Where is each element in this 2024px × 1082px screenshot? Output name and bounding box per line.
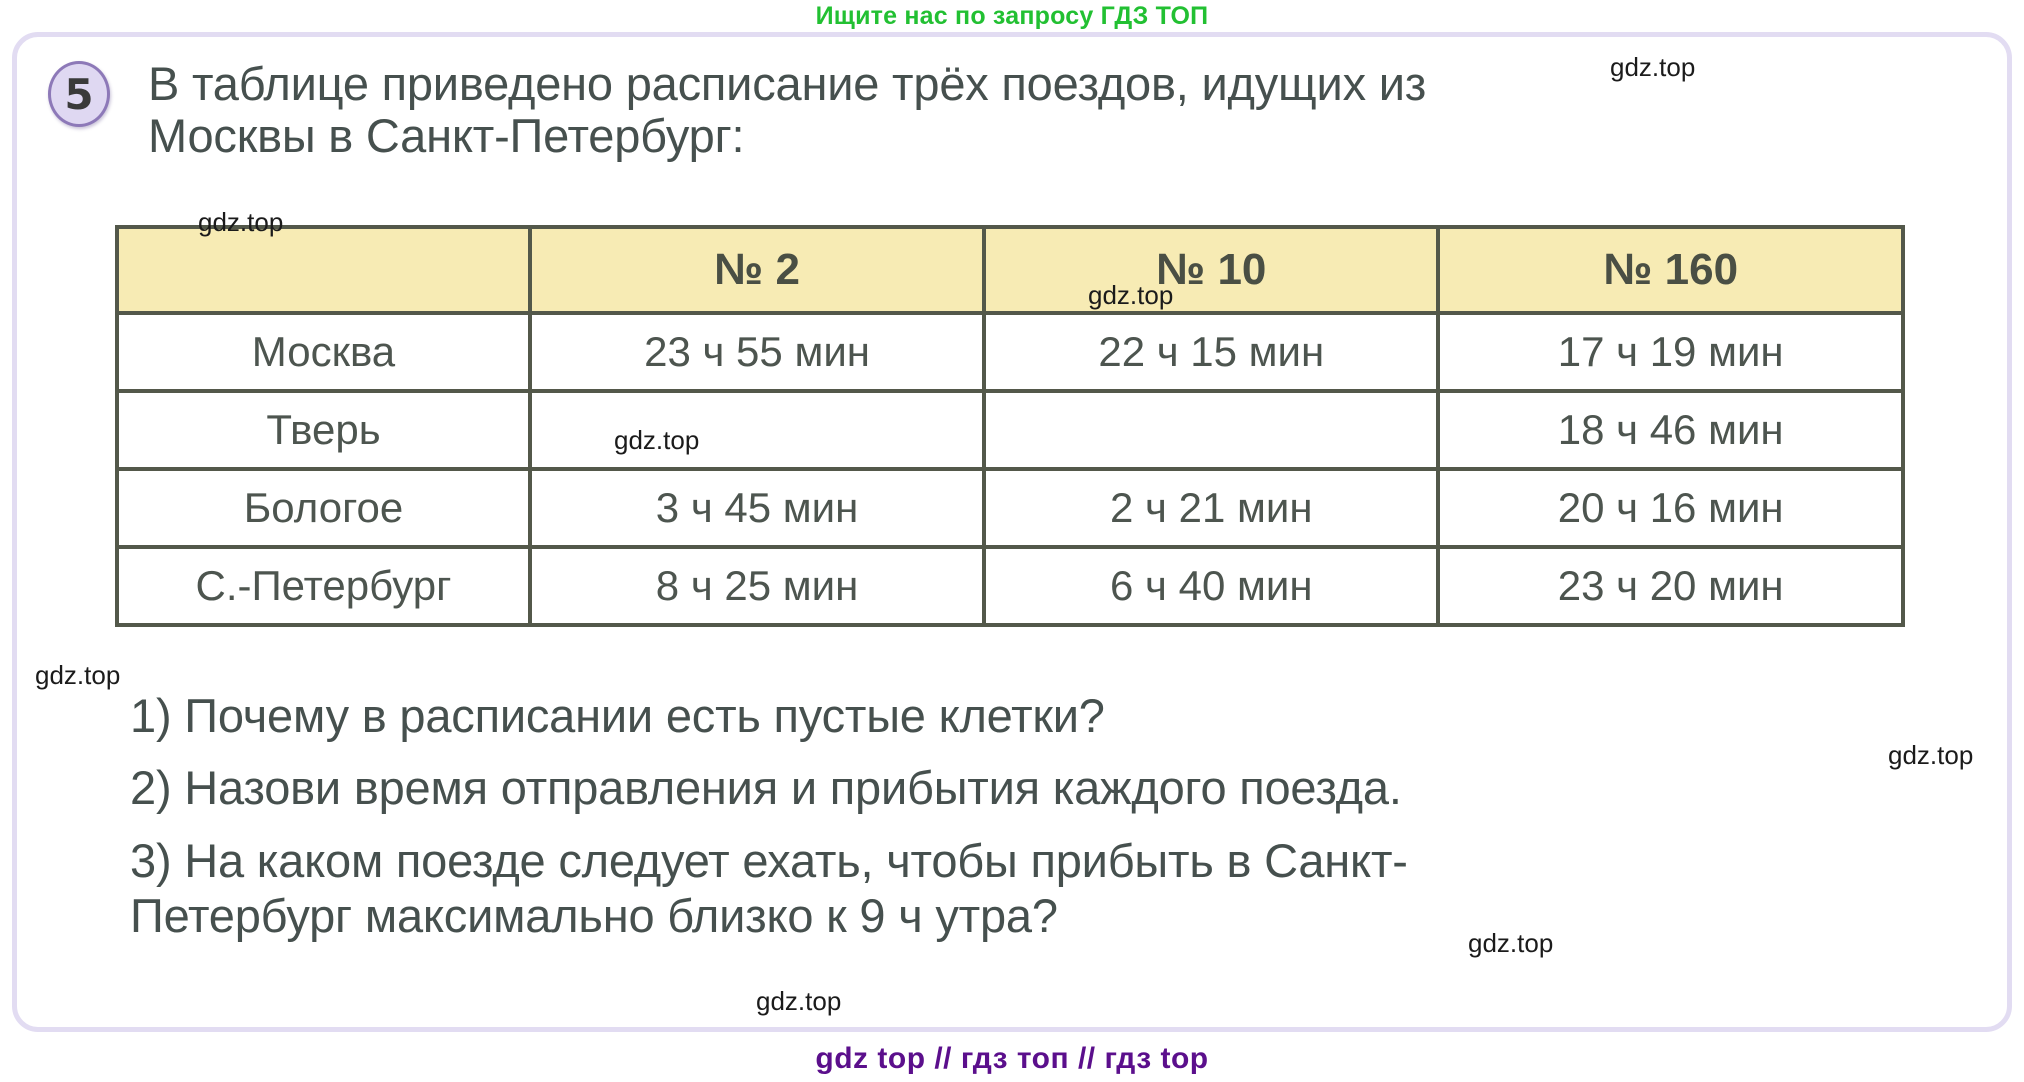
cell-train-10: [984, 391, 1438, 469]
cell-train-10: 6 ч 40 мин: [984, 547, 1438, 625]
watermark: gdz.top: [198, 207, 283, 238]
watermark: gdz.top: [1610, 52, 1695, 83]
cell-train-2: 3 ч 45 мин: [530, 469, 984, 547]
table-row: С.-Петербург 8 ч 25 мин 6 ч 40 мин 23 ч …: [117, 547, 1903, 625]
task-statement-line-1: В таблице приведено расписание трёх поез…: [148, 57, 1426, 110]
table-header-train-2: № 2: [530, 227, 984, 313]
watermark: gdz.top: [1888, 740, 1973, 771]
cell-train-10: 22 ч 15 мин: [984, 313, 1438, 391]
question-2: 2) Назови время отправления и прибытия к…: [130, 760, 1920, 815]
watermark: gdz.top: [614, 425, 699, 456]
question-3: 3) На каком поезде следует ехать, чтобы …: [130, 833, 1920, 944]
cell-train-10: 2 ч 21 мин: [984, 469, 1438, 547]
task-statement: В таблице приведено расписание трёх поез…: [148, 58, 2008, 161]
watermark: gdz.top: [1088, 280, 1173, 311]
watermark: gdz.top: [35, 660, 120, 691]
question-1: 1) Почему в расписании есть пустые клетк…: [130, 688, 1920, 743]
cell-station: С.-Петербург: [117, 547, 530, 625]
cell-train-160: 18 ч 46 мин: [1438, 391, 1903, 469]
table-row: Бологое 3 ч 45 мин 2 ч 21 мин 20 ч 16 ми…: [117, 469, 1903, 547]
question-3-line-1: 3) На каком поезде следует ехать, чтобы …: [130, 834, 1408, 887]
cell-train-160: 17 ч 19 мин: [1438, 313, 1903, 391]
train-schedule-table: № 2 № 10 № 160 Москва 23 ч 55 мин 22 ч 1…: [115, 225, 1905, 627]
watermark: gdz.top: [1468, 928, 1553, 959]
worksheet-page: Ищите нас по запросу ГДЗ ТОП 5 В таблице…: [0, 0, 2024, 1082]
table-header-row: № 2 № 10 № 160: [117, 227, 1903, 313]
cell-train-160: 23 ч 20 мин: [1438, 547, 1903, 625]
task-statement-line-2: Москвы в Санкт-Петербург:: [148, 110, 2008, 162]
footer-brand: gdz top // гдз топ // гдз top: [0, 1042, 2024, 1076]
questions-list: 1) Почему в расписании есть пустые клетк…: [130, 688, 1920, 961]
cell-train-2: 23 ч 55 мин: [530, 313, 984, 391]
table-header-train-160: № 160: [1438, 227, 1903, 313]
watermark: gdz.top: [756, 986, 841, 1017]
table-header-train-10: № 10: [984, 227, 1438, 313]
question-3-line-2: Петербург максимально близко к 9 ч утра?: [130, 888, 1920, 943]
task-number-badge: 5: [48, 61, 110, 127]
table-row: Москва 23 ч 55 мин 22 ч 15 мин 17 ч 19 м…: [117, 313, 1903, 391]
cell-station: Бологое: [117, 469, 530, 547]
cell-train-2: 8 ч 25 мин: [530, 547, 984, 625]
schedule-table-container: № 2 № 10 № 160 Москва 23 ч 55 мин 22 ч 1…: [115, 225, 1905, 627]
cell-train-2: [530, 391, 984, 469]
cell-train-160: 20 ч 16 мин: [1438, 469, 1903, 547]
promo-banner: Ищите нас по запросу ГДЗ ТОП: [0, 2, 2024, 31]
cell-station: Москва: [117, 313, 530, 391]
table-row: Тверь 18 ч 46 мин: [117, 391, 1903, 469]
table-header-corner: [117, 227, 530, 313]
cell-station: Тверь: [117, 391, 530, 469]
